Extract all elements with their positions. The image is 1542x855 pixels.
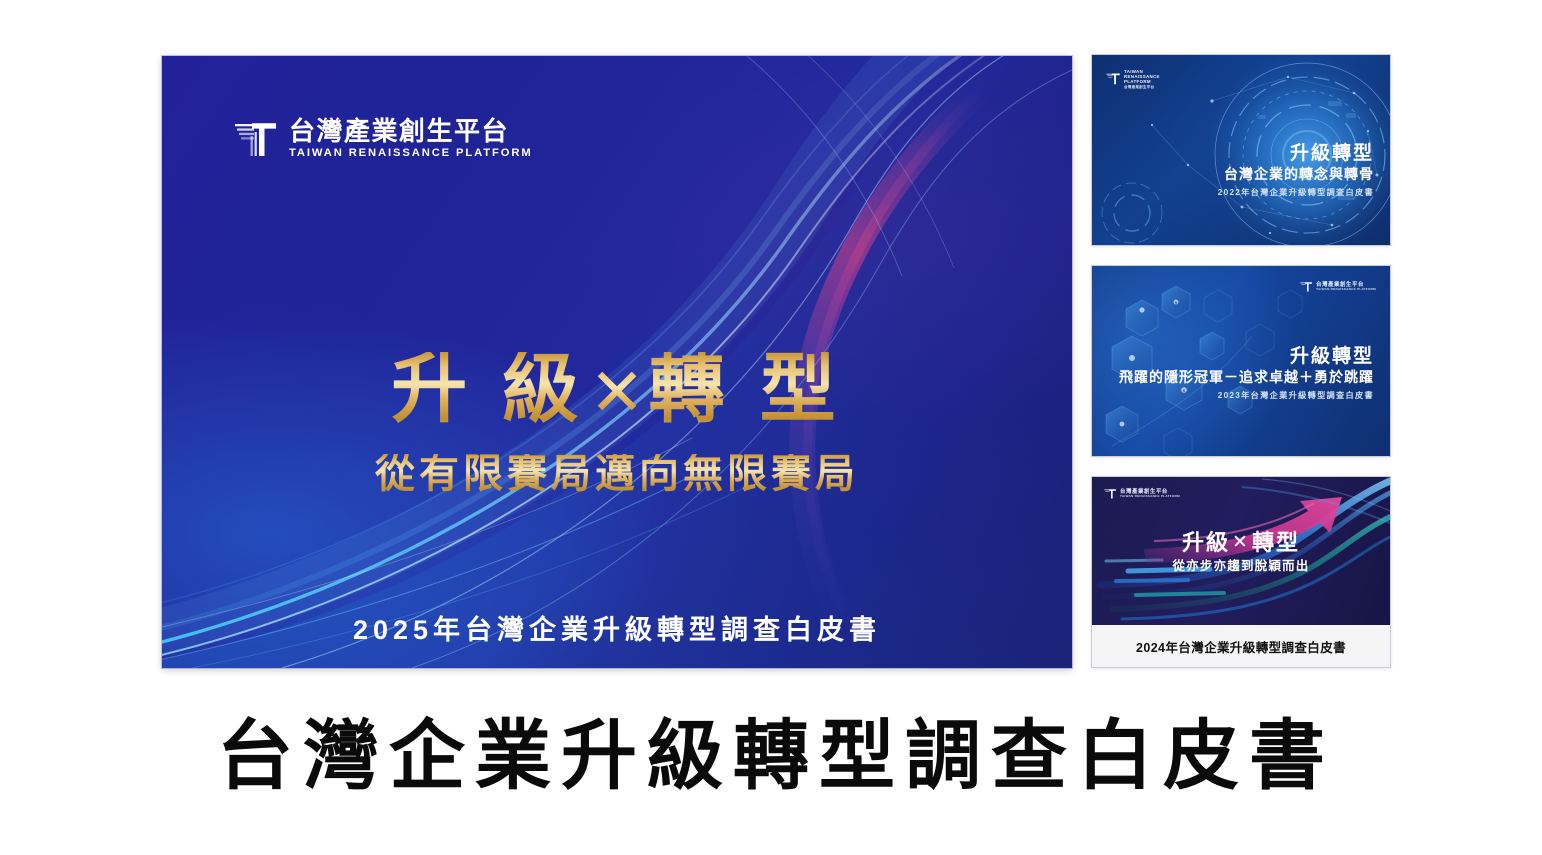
thumbnail-2023-title: 升級轉型 [1119, 346, 1374, 368]
thumbnail-2023-subtitle: 飛躍的隱形冠軍－追求卓越＋勇於跳躍 [1119, 368, 1374, 388]
thumbnail-2022-text: 升級轉型 台灣企業的轉念與轉骨 2022年台灣企業升級轉型調查白皮書 [1218, 143, 1374, 201]
thumbnail-2024-text: 升級 ✕ 轉型 從亦步亦趨到脫穎而出 [1092, 531, 1390, 579]
logo-line-cn: 台灣產業創生平台 [1124, 85, 1160, 89]
main-cover-2025[interactable]: 台灣產業創生平台 TAIWAN RENAISSANCE PLATFORM 升 級… [162, 56, 1072, 668]
platform-logo: 台灣產業創生平台 TAIWAN RENAISSANCE PLATFORM [234, 118, 533, 162]
thumbnail-2024-caption: 2024年台灣企業升級轉型調查白皮書 [1092, 625, 1390, 667]
cover-subtitle: 從有限賽局邁向無限賽局 [162, 454, 1072, 494]
page-root: 台灣產業創生平台 TAIWAN RENAISSANCE PLATFORM 升 級… [0, 0, 1542, 855]
thumbnail-2024-subtitle: 從亦步亦趨到脫穎而出 [1092, 555, 1390, 579]
cover-title: 升 級 ✕ 轉 型 [162, 352, 1072, 428]
thumbnail-2022-footer: 2022年台灣企業升級轉型調查白皮書 [1218, 185, 1374, 201]
thumbnail-2022[interactable]: TAIWAN RENAISSANCE PLATFORM 台灣產業創生平台 升級轉… [1092, 55, 1390, 245]
thumbnail-2024-title-right: 轉型 [1252, 531, 1300, 555]
thumbnail-2024[interactable]: 台灣產業創生平台 TAIWAN RENAISSANCE PLATFORM 升級 … [1092, 477, 1390, 667]
thumbnail-2024-title-left: 升級 [1182, 531, 1230, 555]
thumbnail-2024-logo: 台灣產業創生平台 TAIWAN RENAISSANCE PLATFORM [1104, 488, 1180, 500]
thumbnail-2024-background: 台灣產業創生平台 TAIWAN RENAISSANCE PLATFORM 升級 … [1092, 477, 1390, 625]
thumbnail-2022-logo: TAIWAN RENAISSANCE PLATFORM 台灣產業創生平台 [1106, 70, 1160, 89]
thumbnail-2023-text: 升級轉型 飛躍的隱形冠軍－追求卓越＋勇於跳躍 2023年台灣企業升級轉型調查白皮… [1119, 346, 1374, 404]
cover-title-left: 升 級 [391, 352, 585, 428]
cross-icon: ✕ [585, 359, 648, 425]
page-heading: 台灣企業升級轉型調查白皮書 [0, 702, 1542, 812]
logo-line-en: TAIWAN RENAISSANCE PLATFORM [1120, 495, 1180, 498]
thumbnail-2022-title: 升級轉型 [1218, 143, 1374, 165]
platform-logo-en: TAIWAN RENAISSANCE PLATFORM [289, 145, 533, 162]
platform-logo-mark [1106, 72, 1121, 86]
thumbnail-2022-subtitle: 台灣企業的轉念與轉骨 [1218, 165, 1374, 185]
thumbnail-2024-title: 升級 ✕ 轉型 [1092, 531, 1390, 555]
platform-logo-mark [1104, 488, 1117, 500]
thumbnail-2023-logo: 台灣產業創生平台 TAIWAN RENAISSANCE PLATFORM [1300, 281, 1376, 293]
cover-title-right: 轉 型 [649, 352, 843, 428]
platform-logo-cn: 台灣產業創生平台 [289, 118, 533, 145]
logo-line-en: TAIWAN RENAISSANCE PLATFORM [1316, 288, 1376, 291]
thumbnail-2023[interactable]: $$ 台灣產業創生平台 TAIWAN RENAISSANCE PLATFORM … [1092, 266, 1390, 456]
platform-logo-mark [234, 120, 280, 160]
cover-footer-text: 2025年台灣企業升級轉型調查白皮書 [162, 617, 1072, 644]
thumbnail-2023-footer: 2023年台灣企業升級轉型調查白皮書 [1119, 388, 1374, 404]
platform-logo-mark [1300, 281, 1313, 293]
cross-icon: ✕ [1230, 533, 1252, 554]
